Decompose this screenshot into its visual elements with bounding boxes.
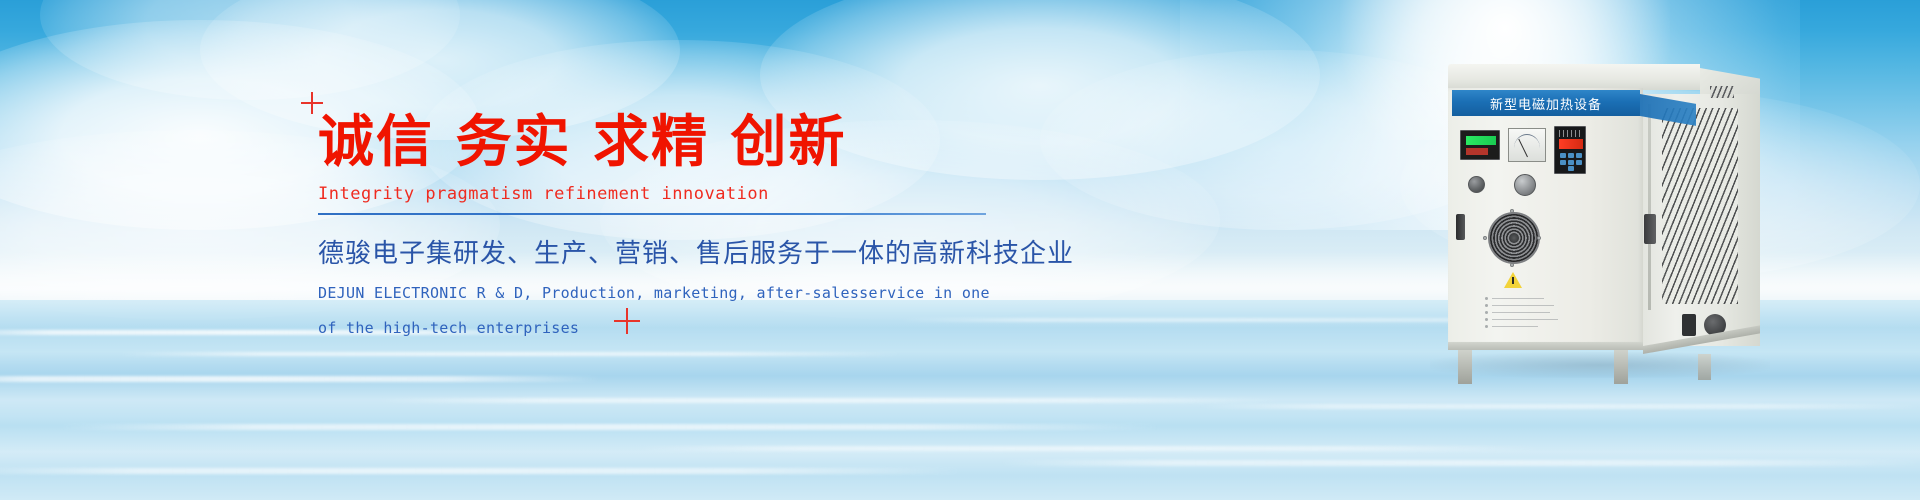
display-segment-red xyxy=(1466,148,1488,155)
sticker-line xyxy=(1492,312,1550,313)
machine-fan-grille xyxy=(1488,212,1540,264)
display-segment-green xyxy=(1466,136,1496,145)
banner-description-english-line2: of the high-tech enterprises xyxy=(318,316,1018,341)
machine-edge xyxy=(1648,104,1651,310)
sticker-line xyxy=(1492,326,1538,327)
machine-analog-meter xyxy=(1508,128,1546,162)
machine-top-panel xyxy=(1448,64,1700,90)
sticker-bullet xyxy=(1485,304,1488,307)
warning-triangle-icon xyxy=(1504,272,1522,288)
machine-side-port xyxy=(1682,314,1696,336)
machine-spec-sticker xyxy=(1484,296,1562,330)
fan-screw xyxy=(1483,236,1487,240)
hero-banner: 诚信 务实 求精 创新 Integrity pragmatism refinem… xyxy=(0,0,1920,500)
banner-description-english-line1: DEJUN ELECTRONIC R & D, Production, mark… xyxy=(318,281,1018,306)
fan-screw xyxy=(1537,236,1541,240)
meter-scale xyxy=(1514,134,1540,148)
sticker-line xyxy=(1492,305,1554,306)
controller-display xyxy=(1559,139,1583,149)
sticker-bullet xyxy=(1485,297,1488,300)
machine-side-latch xyxy=(1644,214,1656,244)
divider xyxy=(318,213,986,215)
machine-leg xyxy=(1698,354,1711,380)
machine-door-handle xyxy=(1456,214,1465,240)
machine-base xyxy=(1448,342,1643,350)
product-machine: 新型电磁加热设备 xyxy=(1448,64,1768,364)
machine-leg xyxy=(1614,350,1628,384)
machine-control-knob xyxy=(1514,174,1536,196)
fan-screw xyxy=(1510,209,1514,213)
machine-leg xyxy=(1458,350,1472,384)
machine-label-text: 新型电磁加热设备 xyxy=(1490,94,1602,113)
banner-headline: 诚信 务实 求精 创新 xyxy=(318,112,1018,175)
machine-side-vents xyxy=(1662,108,1738,304)
banner-copy: 诚信 务实 求精 创新 Integrity pragmatism refinem… xyxy=(318,112,1018,341)
controller-buttons xyxy=(1560,153,1582,171)
controller-key xyxy=(1568,160,1574,165)
controller-key xyxy=(1560,160,1566,165)
sticker-bullet xyxy=(1485,318,1488,321)
controller-scale xyxy=(1559,130,1583,137)
fan-screw xyxy=(1510,263,1514,267)
controller-key xyxy=(1568,153,1574,158)
sticker-line xyxy=(1492,319,1558,320)
machine-selector-knob xyxy=(1468,176,1485,193)
machine-digital-display xyxy=(1460,130,1500,160)
sticker-bullet xyxy=(1485,325,1488,328)
machine-controller-keypad xyxy=(1554,126,1586,174)
controller-key xyxy=(1568,166,1574,171)
banner-headline-english: Integrity pragmatism refinement innovati… xyxy=(318,184,1018,204)
sticker-line xyxy=(1492,298,1544,299)
machine-top-vent xyxy=(1710,86,1734,98)
sticker-bullet xyxy=(1485,311,1488,314)
controller-key xyxy=(1576,160,1582,165)
machine-label: 新型电磁加热设备 xyxy=(1452,90,1640,116)
banner-description-chinese: 德骏电子集研发、生产、营销、售后服务于一体的高新科技企业 xyxy=(318,233,1018,270)
controller-key xyxy=(1576,153,1582,158)
controller-key xyxy=(1560,153,1566,158)
